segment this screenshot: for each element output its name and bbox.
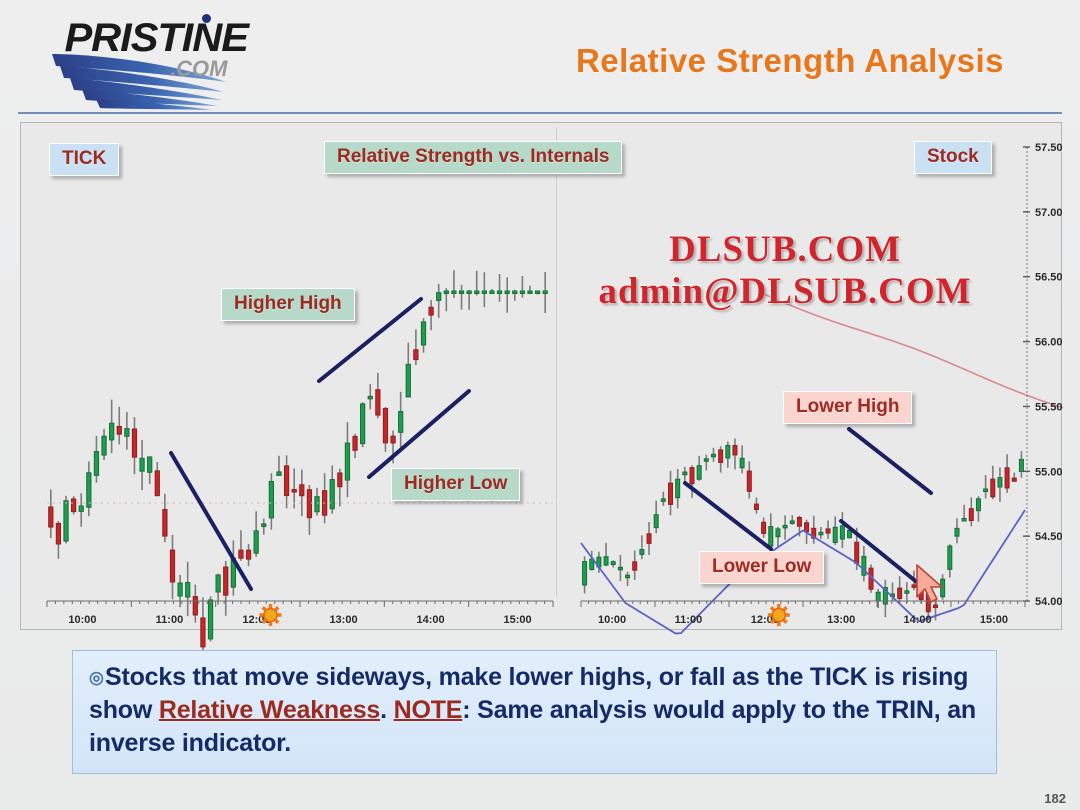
callout-lower-low: Lower Low <box>699 551 824 584</box>
watermark-line-2: admin@DLSUB.COM <box>540 270 1030 313</box>
callout-higher-low: Higher Low <box>391 468 520 501</box>
callout-tick: TICK <box>49 143 119 176</box>
svg-text:14:00: 14:00 <box>903 614 931 626</box>
chart-axes: 57.5057.0056.5056.0055.5055.0054.5054.00… <box>21 123 1063 631</box>
chart-frame: 57.5057.0056.5056.0055.5055.0054.5054.00… <box>20 122 1062 630</box>
logo-com-text: .COM <box>170 56 227 82</box>
svg-text:15:00: 15:00 <box>980 614 1008 626</box>
svg-text:57.50: 57.50 <box>1035 142 1063 154</box>
slide-root: PRISTINE .COM Relative Strength Analysis… <box>0 0 1080 810</box>
svg-text:11:00: 11:00 <box>675 614 703 626</box>
svg-text:13:00: 13:00 <box>329 614 357 626</box>
logo-wordmark: PRISTINE <box>64 16 248 61</box>
bullet-icon: ◎ <box>89 667 105 689</box>
svg-text:56.00: 56.00 <box>1035 337 1063 349</box>
mouse-cursor-icon <box>914 563 948 605</box>
svg-text:55.50: 55.50 <box>1035 401 1063 413</box>
caption-emph-note: NOTE <box>394 696 463 724</box>
svg-text:13:00: 13:00 <box>827 614 855 626</box>
callout-higher-high: Higher High <box>221 288 355 321</box>
svg-text:56.50: 56.50 <box>1035 272 1063 284</box>
svg-text:11:00: 11:00 <box>156 614 184 626</box>
svg-text:54.50: 54.50 <box>1035 531 1063 543</box>
svg-text:10:00: 10:00 <box>598 614 626 626</box>
caption-emph-relative-weakness: Relative Weakness <box>159 696 380 724</box>
caption-part2: . <box>380 696 394 724</box>
svg-text:10:00: 10:00 <box>68 614 96 626</box>
svg-text:55.00: 55.00 <box>1035 466 1063 478</box>
logo-dot <box>202 14 211 23</box>
svg-text:15:00: 15:00 <box>504 614 532 626</box>
caption-text: ◎Stocks that move sideways, make lower h… <box>89 661 982 760</box>
pristine-logo: PRISTINE .COM <box>50 12 280 104</box>
callout-relative-strength: Relative Strength vs. Internals <box>324 141 622 174</box>
header-divider <box>18 112 1062 114</box>
svg-text:14:00: 14:00 <box>416 614 444 626</box>
svg-text:57.00: 57.00 <box>1035 207 1063 219</box>
callout-stock: Stock <box>914 141 992 174</box>
caption-box: ◎Stocks that move sideways, make lower h… <box>72 650 997 774</box>
page-title: Relative Strength Analysis <box>520 42 1060 80</box>
svg-text:54.00: 54.00 <box>1035 596 1063 608</box>
watermark-line-1: DLSUB.COM <box>540 228 1030 271</box>
callout-lower-high: Lower High <box>783 391 912 424</box>
page-number: 182 <box>1044 791 1066 806</box>
